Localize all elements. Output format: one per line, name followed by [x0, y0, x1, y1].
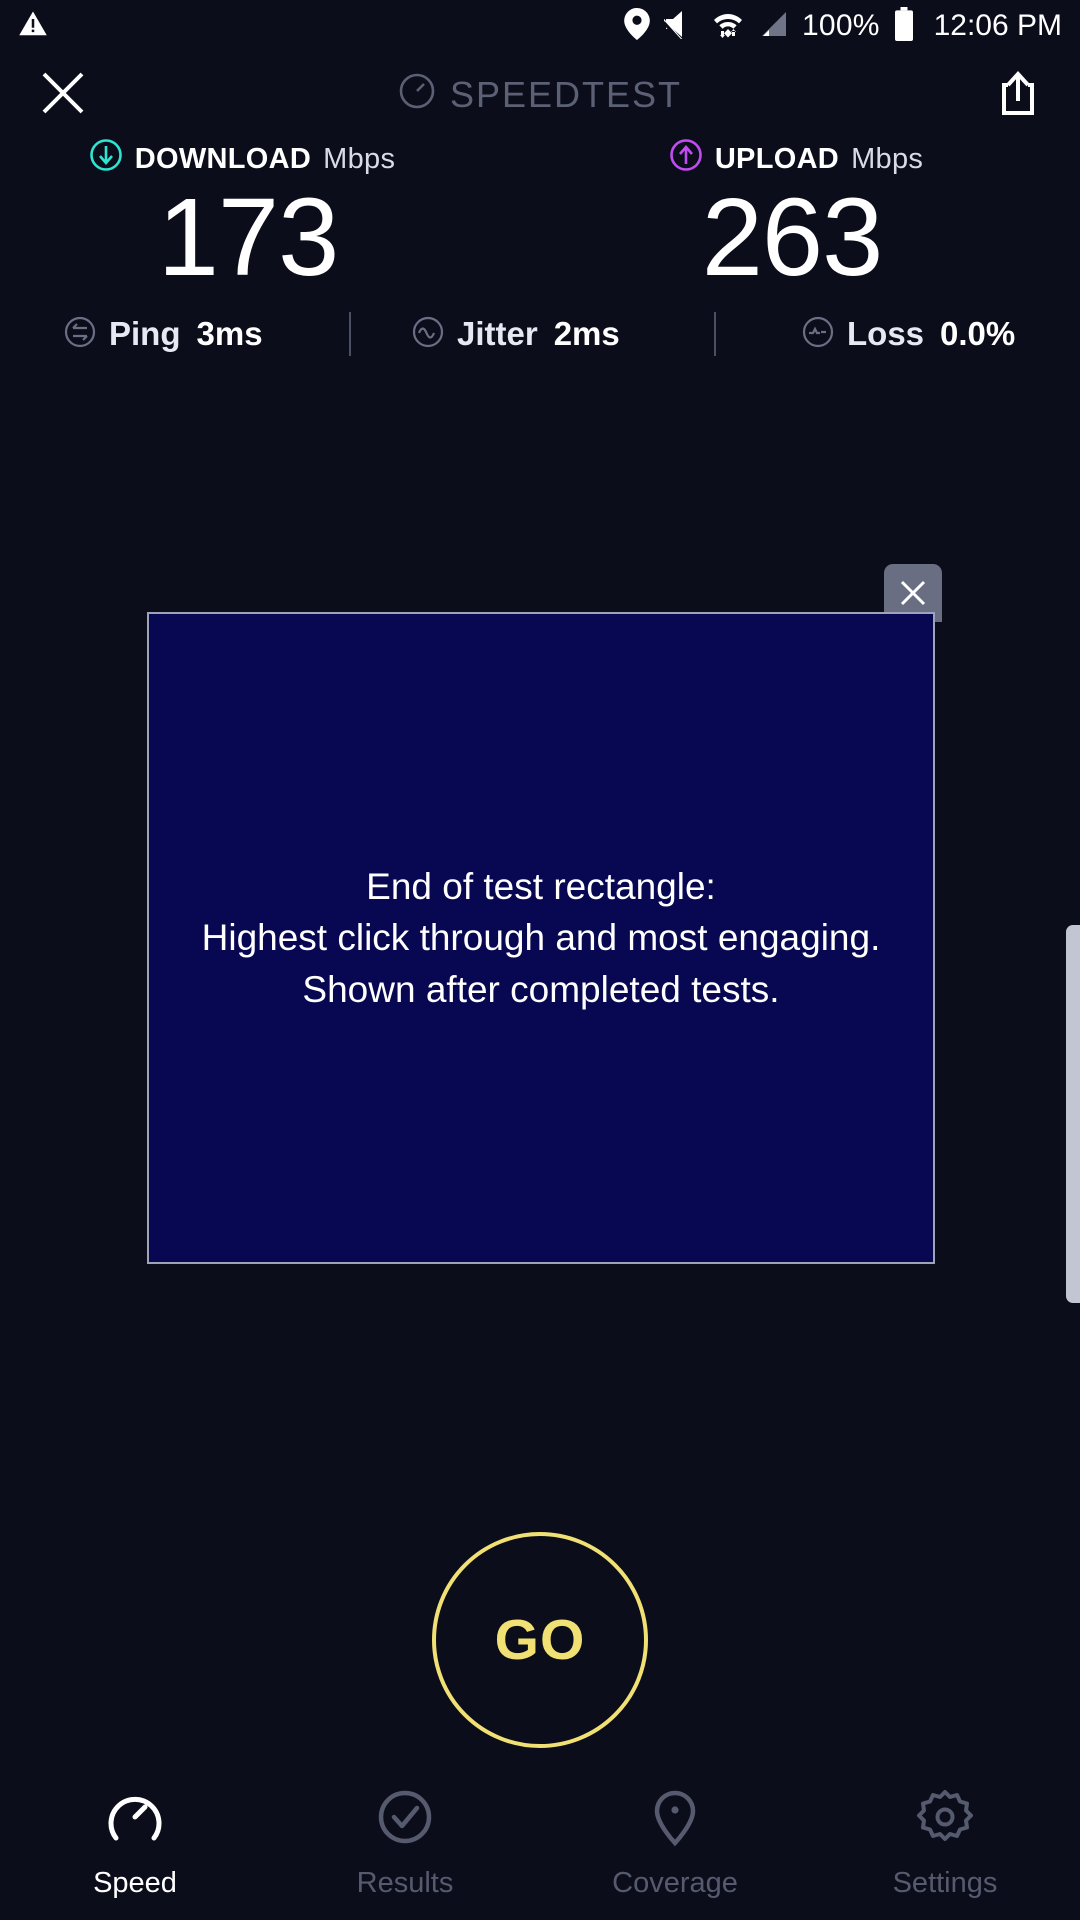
nav-item-settings[interactable]: Settings — [810, 1786, 1080, 1900]
battery-percent-label: 100% — [802, 9, 880, 43]
network-quality-row: Ping 3ms Jitter 2ms Loss 0.0% — [0, 303, 1080, 365]
download-value: 173 — [0, 182, 518, 294]
go-button-label: GO — [495, 1607, 586, 1673]
cellular-signal-icon — [758, 9, 788, 44]
ping-metric: Ping 3ms — [62, 314, 263, 355]
ping-value: 3ms — [197, 315, 263, 353]
divider — [714, 312, 716, 356]
download-unit: Mbps — [323, 143, 395, 176]
nav-label-speed: Speed — [93, 1867, 177, 1900]
upload-arrow-icon — [669, 138, 703, 180]
speedometer-icon — [398, 72, 436, 119]
divider — [349, 312, 351, 356]
scrollbar[interactable] — [1066, 925, 1080, 1303]
close-button[interactable] — [40, 70, 86, 121]
warning-triangle-icon — [18, 9, 48, 44]
nav-item-coverage[interactable]: Coverage — [540, 1786, 810, 1900]
nav-label-settings: Settings — [893, 1867, 998, 1900]
upload-value: 263 — [522, 182, 1062, 294]
ping-label: Ping — [109, 315, 181, 353]
jitter-label: Jitter — [457, 315, 538, 353]
map-pin-icon — [644, 1786, 706, 1853]
wifi-icon — [712, 8, 744, 45]
app-header: SPEEDTEST — [0, 58, 1080, 132]
app-title-group: SPEEDTEST — [0, 72, 1080, 119]
upload-metric: UPLOAD Mbps 263 — [540, 138, 1080, 294]
loss-metric: Loss 0.0% — [800, 314, 1015, 355]
share-button[interactable] — [996, 69, 1040, 122]
page-title: SPEEDTEST — [450, 74, 682, 116]
jitter-icon — [410, 314, 446, 355]
location-pin-icon — [624, 8, 650, 45]
jitter-value: 2ms — [554, 315, 620, 353]
loss-icon — [800, 314, 836, 355]
bottom-navigation: Speed Results Coverage Settings — [0, 1770, 1080, 1920]
loss-label: Loss — [847, 315, 924, 353]
download-metric: DOWNLOAD Mbps 173 — [0, 138, 540, 294]
nav-item-results[interactable]: Results — [270, 1786, 540, 1900]
nav-item-speed[interactable]: Speed — [0, 1786, 270, 1900]
nav-label-coverage: Coverage — [612, 1867, 738, 1900]
status-bar-clock: 12:06 PM — [934, 9, 1062, 43]
go-button[interactable]: GO — [432, 1532, 648, 1748]
check-circle-icon — [374, 1786, 436, 1853]
speedometer-icon — [104, 1786, 166, 1853]
gear-icon — [914, 1786, 976, 1853]
volume-muted-icon — [664, 9, 698, 44]
ping-icon — [62, 314, 98, 355]
download-arrow-icon — [89, 138, 123, 180]
nav-label-results: Results — [357, 1867, 454, 1900]
status-bar: 100% 12:06 PM — [0, 0, 1080, 52]
ad-banner[interactable]: End of test rectangle: Highest click thr… — [147, 612, 935, 1264]
upload-label: UPLOAD — [715, 143, 839, 176]
upload-unit: Mbps — [851, 143, 923, 176]
jitter-metric: Jitter 2ms — [410, 314, 620, 355]
loss-value: 0.0% — [940, 315, 1015, 353]
ad-text: End of test rectangle: Highest click thr… — [202, 861, 881, 1014]
test-results: DOWNLOAD Mbps 173 UPLOAD Mbps 263 — [0, 138, 1080, 294]
battery-full-icon — [894, 7, 914, 46]
download-label: DOWNLOAD — [135, 143, 311, 176]
